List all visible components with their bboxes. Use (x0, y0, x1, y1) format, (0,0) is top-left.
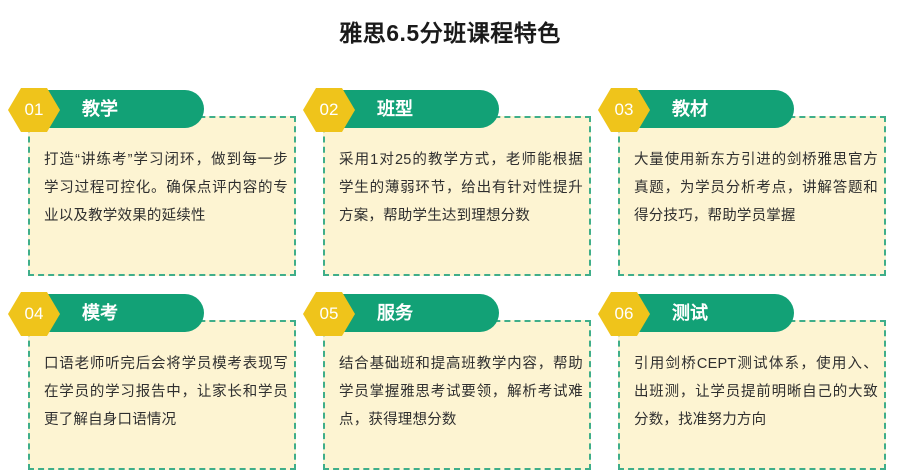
feature-card-3: 大量使用新东方引进的剑桥雅思官方真题，为学员分析考点，讲解答题和得分技巧，帮助学… (598, 88, 888, 278)
feature-card-1-body: 打造“讲练考”学习闭环，做到每一步学习过程可控化。确保点评内容的专业以及教学效果… (28, 116, 296, 276)
feature-card-2: 采用1对25的教学方式，老师能根据学生的薄弱环节，给出有针对性提升方案，帮助学生… (303, 88, 593, 278)
feature-card-3-body: 大量使用新东方引进的剑桥雅思官方真题，为学员分析考点，讲解答题和得分技巧，帮助学… (618, 116, 886, 276)
course-features-infographic: 雅思6.5分班课程特色 打造“讲练考”学习闭环，做到每一步学习过程可控化。确保点… (0, 0, 900, 471)
feature-card-4-body: 口语老师听完后会将学员模考表现写在学员的学习报告中，让家长和学员更了解自身口语情… (28, 320, 296, 470)
feature-card-4-text: 口语老师听完后会将学员模考表现写在学员的学习报告中，让家长和学员更了解自身口语情… (44, 350, 288, 434)
feature-card-2-body: 采用1对25的教学方式，老师能根据学生的薄弱环节，给出有针对性提升方案，帮助学生… (323, 116, 591, 276)
feature-card-4-title: 模考 (82, 294, 118, 332)
page-title: 雅思6.5分班课程特色 (0, 18, 900, 48)
feature-card-1-title: 教学 (82, 90, 118, 128)
feature-card-5-text: 结合基础班和提高班教学内容，帮助学员掌握雅思考试要领，解析考试难点，获得理想分数 (339, 350, 583, 434)
feature-card-3-text: 大量使用新东方引进的剑桥雅思官方真题，为学员分析考点，讲解答题和得分技巧，帮助学… (634, 146, 878, 230)
feature-card-5: 结合基础班和提高班教学内容，帮助学员掌握雅思考试要领，解析考试难点，获得理想分数… (303, 292, 593, 470)
feature-card-2-text: 采用1对25的教学方式，老师能根据学生的薄弱环节，给出有针对性提升方案，帮助学生… (339, 146, 583, 230)
feature-card-1-text: 打造“讲练考”学习闭环，做到每一步学习过程可控化。确保点评内容的专业以及教学效果… (44, 146, 288, 230)
feature-card-5-body: 结合基础班和提高班教学内容，帮助学员掌握雅思考试要领，解析考试难点，获得理想分数 (323, 320, 591, 470)
feature-card-6-text: 引用剑桥CEPT测试体系，使用入、出班测，让学员提前明晰自己的大致分数，找准努力… (634, 350, 878, 434)
feature-card-2-title: 班型 (377, 90, 413, 128)
feature-card-6-title: 测试 (672, 294, 708, 332)
feature-card-6: 引用剑桥CEPT测试体系，使用入、出班测，让学员提前明晰自己的大致分数，找准努力… (598, 292, 888, 470)
feature-card-grid: 打造“讲练考”学习闭环，做到每一步学习过程可控化。确保点评内容的专业以及教学效果… (8, 88, 892, 470)
feature-card-6-body: 引用剑桥CEPT测试体系，使用入、出班测，让学员提前明晰自己的大致分数，找准努力… (618, 320, 886, 470)
feature-card-3-title: 教材 (672, 90, 708, 128)
feature-card-1: 打造“讲练考”学习闭环，做到每一步学习过程可控化。确保点评内容的专业以及教学效果… (8, 88, 298, 278)
feature-card-5-title: 服务 (377, 294, 413, 332)
feature-card-4: 口语老师听完后会将学员模考表现写在学员的学习报告中，让家长和学员更了解自身口语情… (8, 292, 298, 470)
